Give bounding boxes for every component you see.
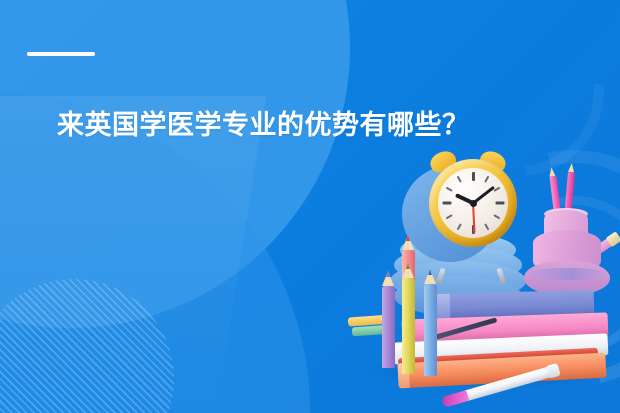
clock-body bbox=[429, 159, 517, 247]
clock-second-hand bbox=[472, 203, 476, 233]
clock-tick bbox=[493, 214, 500, 219]
pencil-blue bbox=[424, 284, 437, 376]
brush-tip bbox=[606, 231, 620, 247]
clock-center-cap bbox=[470, 200, 477, 207]
pen-tip bbox=[441, 390, 469, 408]
clock-tick bbox=[442, 202, 451, 205]
holder-pencil-tip bbox=[568, 163, 575, 172]
pencil-nib bbox=[386, 271, 390, 277]
banner-headline: 来英国学医学专业的优势有哪些？ bbox=[57, 106, 470, 144]
holder-pencil-tip bbox=[548, 167, 555, 177]
alarm-clock-icon bbox=[418, 152, 524, 272]
pencil-nib bbox=[406, 235, 410, 241]
clock-tick bbox=[484, 176, 489, 183]
clock-face bbox=[438, 168, 508, 238]
pencil-holder bbox=[524, 212, 610, 302]
clock-tick bbox=[484, 223, 489, 230]
study-desk-illustration bbox=[340, 150, 620, 413]
book-edge bbox=[436, 294, 451, 320]
pencil-nib bbox=[428, 269, 432, 275]
clock-tick bbox=[446, 187, 453, 192]
clock-tick bbox=[446, 214, 453, 219]
clock-tick bbox=[472, 172, 475, 181]
pencil-purple bbox=[382, 286, 395, 368]
clock-tick bbox=[457, 223, 462, 230]
headline-divider bbox=[27, 52, 95, 56]
holder-base-band bbox=[528, 268, 606, 280]
promo-banner: 来英国学医学专业的优势有哪些？ bbox=[0, 0, 620, 413]
pencil-nib bbox=[406, 263, 410, 269]
clock-tick bbox=[495, 202, 504, 205]
clock-tick bbox=[457, 176, 462, 183]
pencil-yellow bbox=[402, 278, 415, 374]
